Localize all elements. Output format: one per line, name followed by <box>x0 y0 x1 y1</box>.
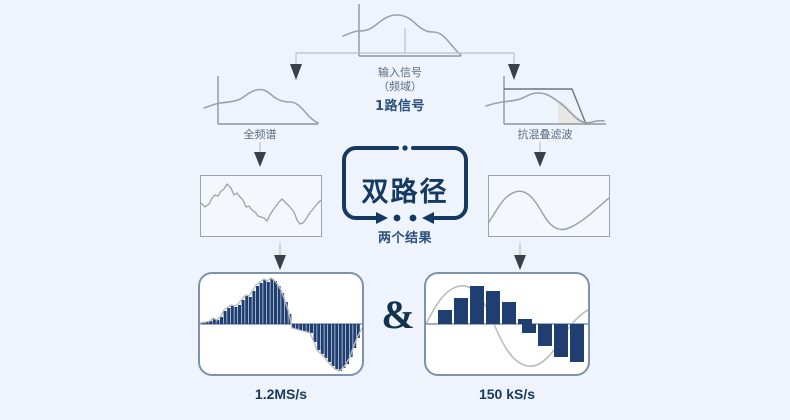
arrow-left-result-down <box>260 243 300 271</box>
arrow-down-icon <box>514 255 526 270</box>
badge-top-dot <box>402 145 407 150</box>
chart-antialias-filter <box>482 72 608 130</box>
bar-group <box>202 279 360 371</box>
noisy-trace <box>201 184 321 224</box>
badge-caption: 两个结果 <box>345 232 465 246</box>
bar-group <box>438 286 584 362</box>
antialias-svg <box>482 72 608 130</box>
dual-path-badge: 双路径 <box>340 144 470 232</box>
rate-label-lowrate: 150 kS/s <box>444 386 570 402</box>
full-spectrum-svg <box>200 72 320 130</box>
badge-dot <box>410 215 417 222</box>
arrow-right-result-down <box>500 243 540 271</box>
full-spectrum-trace <box>204 89 318 123</box>
conjunction-ampersand: & <box>378 292 418 338</box>
panel-time-noisy <box>200 175 322 237</box>
highrate-chart-svg <box>200 274 362 374</box>
panel-time-sine <box>488 175 610 237</box>
badge-title: 双路径 <box>340 170 470 209</box>
arrow-left-branch-down <box>240 142 280 168</box>
time-noisy-svg <box>201 176 321 236</box>
lowrate-chart-svg <box>426 274 588 374</box>
time-sine-svg <box>489 176 609 236</box>
arrow-right-icon <box>376 212 388 224</box>
arrow-down-icon <box>254 152 266 167</box>
arrow-left-icon <box>422 212 434 224</box>
arrow-down-icon <box>274 255 286 270</box>
diagram-canvas: 输入信号 （频域） 1路信号 全频谱 <box>0 0 790 420</box>
panel-result-highrate <box>198 272 364 376</box>
sine-trace <box>489 191 609 229</box>
stream-label: 1路信号 <box>340 100 460 114</box>
badge-dot <box>394 215 401 222</box>
arrow-right-branch-down <box>520 142 560 168</box>
arrow-down-icon <box>534 152 546 167</box>
panel-result-lowrate <box>424 272 590 376</box>
rate-label-highrate: 1.2MS/s <box>218 386 344 402</box>
left-branch-caption: 全频谱 <box>200 128 320 142</box>
chart-full-spectrum <box>200 72 320 130</box>
right-branch-caption: 抗混叠滤波 <box>482 128 608 142</box>
